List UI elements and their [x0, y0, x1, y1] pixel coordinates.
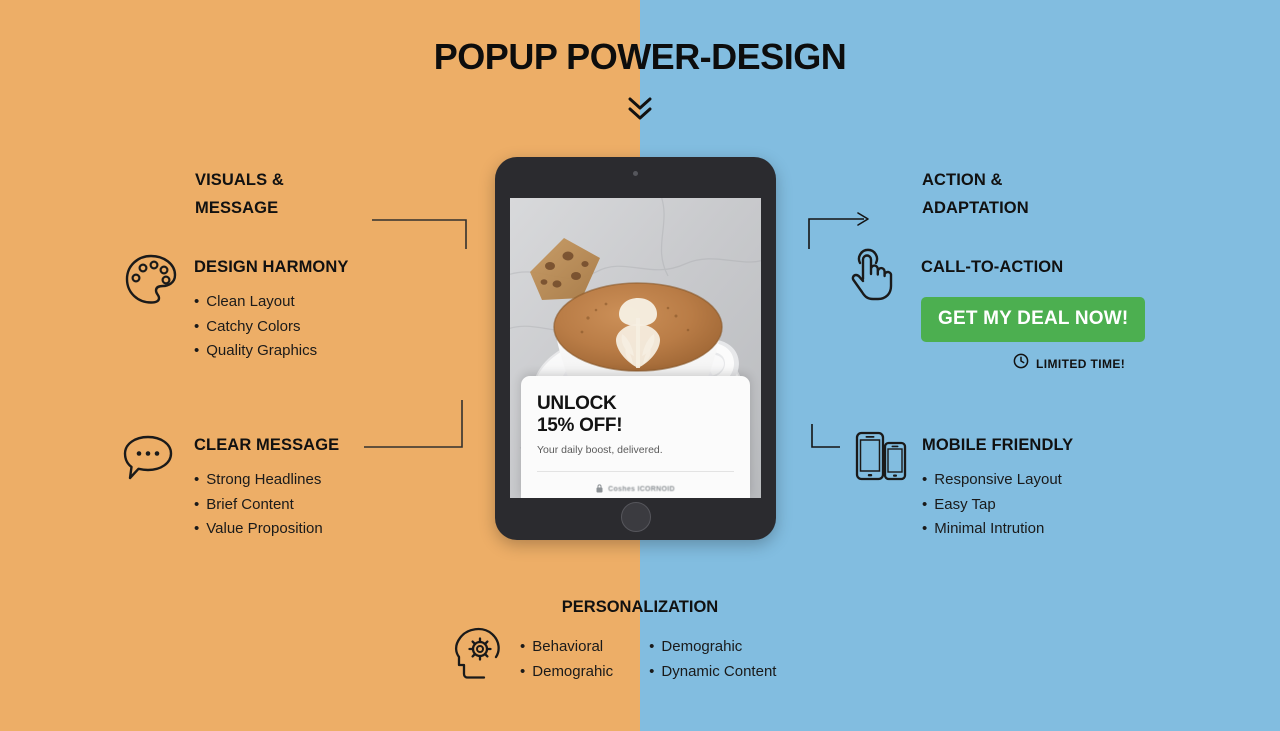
speech-bubble-icon	[120, 431, 176, 483]
list-item: Minimal Intrution	[922, 517, 1073, 542]
list-item: Value Proposition	[194, 517, 339, 542]
block-call-to-action: CALL-TO-ACTION GET MY DEAL NOW! LIMITED …	[921, 258, 1145, 374]
bullet-list-clear-message: Strong Headlines Brief Content Value Pro…	[194, 468, 339, 542]
limited-time-badge: LIMITED TIME!	[1013, 353, 1145, 374]
right-header-line-1: ACTION &	[922, 166, 1029, 194]
personalization-title: PERSONALIZATION	[0, 598, 1280, 617]
list-item: Strong Headlines	[194, 468, 339, 493]
tablet-screen: UNLOCK 15% OFF! Your daily boost, delive…	[510, 198, 761, 498]
personalization-column-right: Demograhic Dynamic Content	[649, 634, 776, 684]
right-section-header: ACTION & ADAPTATION	[922, 166, 1029, 222]
left-header-line-2: MESSAGE	[195, 194, 284, 222]
tablet-mockup: UNLOCK 15% OFF! Your daily boost, delive…	[495, 157, 776, 540]
list-item: Brief Content	[194, 493, 339, 518]
head-gear-icon	[450, 624, 508, 682]
mobile-devices-icon	[853, 429, 909, 483]
popup-subtext: Your daily boost, delivered.	[537, 444, 734, 456]
infographic-canvas: POPUP POWER-DESIGN VISUALS & MESSAGE	[0, 0, 1280, 731]
tap-hand-icon	[846, 245, 900, 303]
clock-icon	[1013, 353, 1029, 374]
left-header-line-1: VISUALS &	[195, 166, 284, 194]
list-item: Catchy Colors	[194, 315, 349, 340]
personalization-columns: Behavioral Demograhic Demograhic Dynamic…	[520, 634, 776, 684]
list-item: Demograhic	[649, 634, 776, 659]
list-item: Clean Layout	[194, 290, 349, 315]
list-item: Behavioral	[520, 634, 613, 659]
block-title-call-to-action: CALL-TO-ACTION	[921, 258, 1145, 277]
personalization-column-left: Behavioral Demograhic	[520, 634, 613, 684]
palette-icon	[122, 251, 180, 307]
popup-card: UNLOCK 15% OFF! Your daily boost, delive…	[521, 376, 750, 498]
page-title: POPUP POWER-DESIGN	[0, 36, 1280, 78]
lock-icon	[596, 480, 603, 498]
block-clear-message: CLEAR MESSAGE Strong Headlines Brief Con…	[194, 436, 339, 542]
popup-headline-line-1: UNLOCK	[537, 393, 734, 415]
bullet-list-design-harmony: Clean Layout Catchy Colors Quality Graph…	[194, 290, 349, 364]
popup-headline: UNLOCK 15% OFF!	[537, 393, 734, 437]
right-header-line-2: ADAPTATION	[922, 194, 1029, 222]
popup-divider	[537, 471, 734, 472]
list-item: Easy Tap	[922, 493, 1073, 518]
popup-footer: Coshes ICORNOID	[521, 480, 750, 498]
bullet-list-mobile-friendly: Responsive Layout Easy Tap Minimal Intru…	[922, 468, 1073, 542]
block-title-design-harmony: DESIGN HARMONY	[194, 258, 349, 277]
home-button[interactable]	[621, 502, 651, 532]
get-my-deal-now-button[interactable]: GET MY DEAL NOW!	[921, 297, 1145, 342]
list-item: Demograhic	[520, 659, 613, 684]
list-item: Responsive Layout	[922, 468, 1073, 493]
left-section-header: VISUALS & MESSAGE	[195, 166, 284, 222]
camera-icon	[633, 171, 638, 176]
popup-headline-line-2: 15% OFF!	[537, 415, 734, 437]
limited-time-label: LIMITED TIME!	[1036, 357, 1125, 371]
chevron-down-icon	[622, 96, 658, 122]
block-title-clear-message: CLEAR MESSAGE	[194, 436, 339, 455]
block-title-mobile-friendly: MOBILE FRIENDLY	[922, 436, 1073, 455]
popup-footer-text: Coshes ICORNOID	[608, 486, 675, 493]
block-design-harmony: DESIGN HARMONY Clean Layout Catchy Color…	[194, 258, 349, 364]
block-mobile-friendly: MOBILE FRIENDLY Responsive Layout Easy T…	[922, 436, 1073, 542]
list-item: Dynamic Content	[649, 659, 776, 684]
list-item: Quality Graphics	[194, 339, 349, 364]
